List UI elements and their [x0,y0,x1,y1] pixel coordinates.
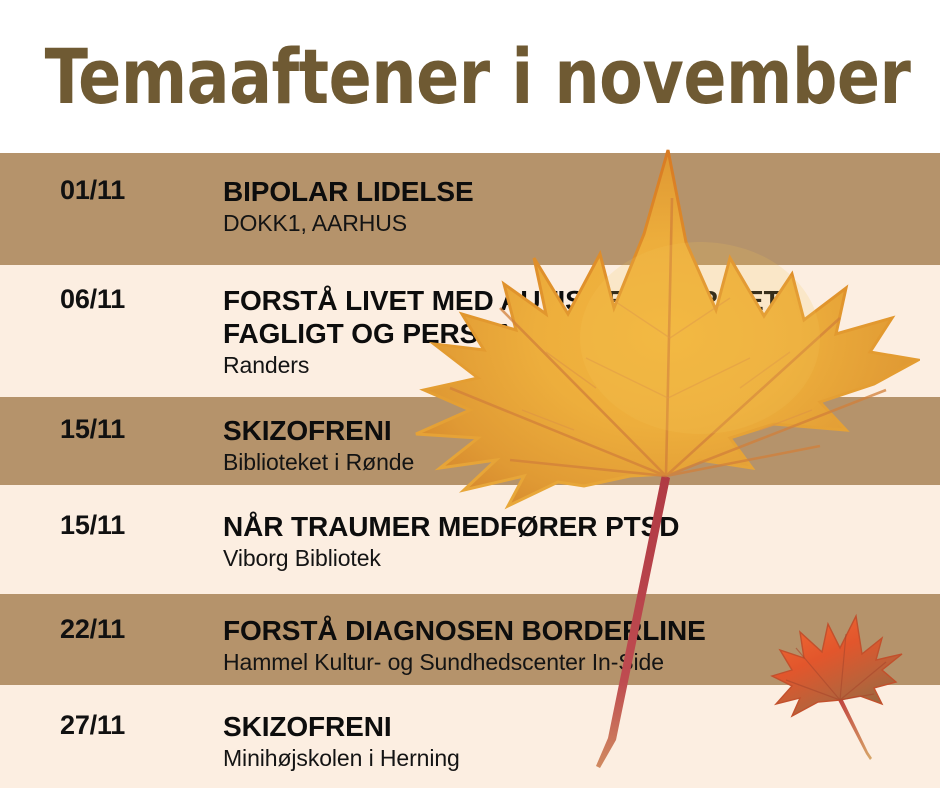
event-date: 22/11 [0,614,160,645]
event-row: 27/11 SKIZOFRENI Minihøjskolen i Herning [0,685,940,788]
event-venue: Viborg Bibliotek [223,545,940,573]
event-row: 15/11 NÅR TRAUMER MEDFØRER PTSD Viborg B… [0,485,940,594]
event-body: NÅR TRAUMER MEDFØRER PTSD Viborg Bibliot… [160,510,940,573]
event-list: 01/11 BIPOLAR LIDELSE DOKK1, AARHUS 06/1… [0,153,940,788]
event-title: NÅR TRAUMER MEDFØRER PTSD [223,510,940,543]
event-row: 22/11 FORSTÅ DIAGNOSEN BORDERLINE Hammel… [0,594,940,685]
event-body: FORSTÅ LIVET MED AUTISME UD FRA ET FAGLI… [160,284,940,380]
event-title: SKIZOFRENI [223,414,940,447]
event-body: BIPOLAR LIDELSE DOKK1, AARHUS [160,175,940,238]
event-date: 06/11 [0,284,160,315]
event-date: 15/11 [0,414,160,445]
event-row: 01/11 BIPOLAR LIDELSE DOKK1, AARHUS [0,153,940,265]
event-date: 27/11 [0,710,160,741]
event-venue: DOKK1, AARHUS [223,210,940,238]
poster-canvas: Temaaftener i november 01/11 BIPOLAR LID… [0,0,940,788]
event-venue: Biblioteket i Rønde [223,449,940,477]
event-body: SKIZOFRENI Biblioteket i Rønde [160,414,940,477]
event-title: FORSTÅ DIAGNOSEN BORDERLINE [223,614,940,647]
event-body: SKIZOFRENI Minihøjskolen i Herning [160,710,940,773]
event-venue: Minihøjskolen i Herning [223,745,940,773]
event-row: 06/11 FORSTÅ LIVET MED AUTISME UD FRA ET… [0,265,940,397]
event-date: 01/11 [0,175,160,206]
event-row: 15/11 SKIZOFRENI Biblioteket i Rønde [0,397,940,485]
event-venue: Hammel Kultur- og Sundhedscenter In-Side [223,649,940,677]
title-bar: Temaaftener i november [0,0,940,153]
event-title: FORSTÅ LIVET MED AUTISME UD FRA ET FAGLI… [223,284,940,350]
event-venue: Randers [223,352,940,380]
event-title: BIPOLAR LIDELSE [223,175,940,208]
event-title: SKIZOFRENI [223,710,940,743]
event-date: 15/11 [0,510,160,541]
event-body: FORSTÅ DIAGNOSEN BORDERLINE Hammel Kultu… [160,614,940,677]
page-title: Temaaftener i november [0,39,910,115]
